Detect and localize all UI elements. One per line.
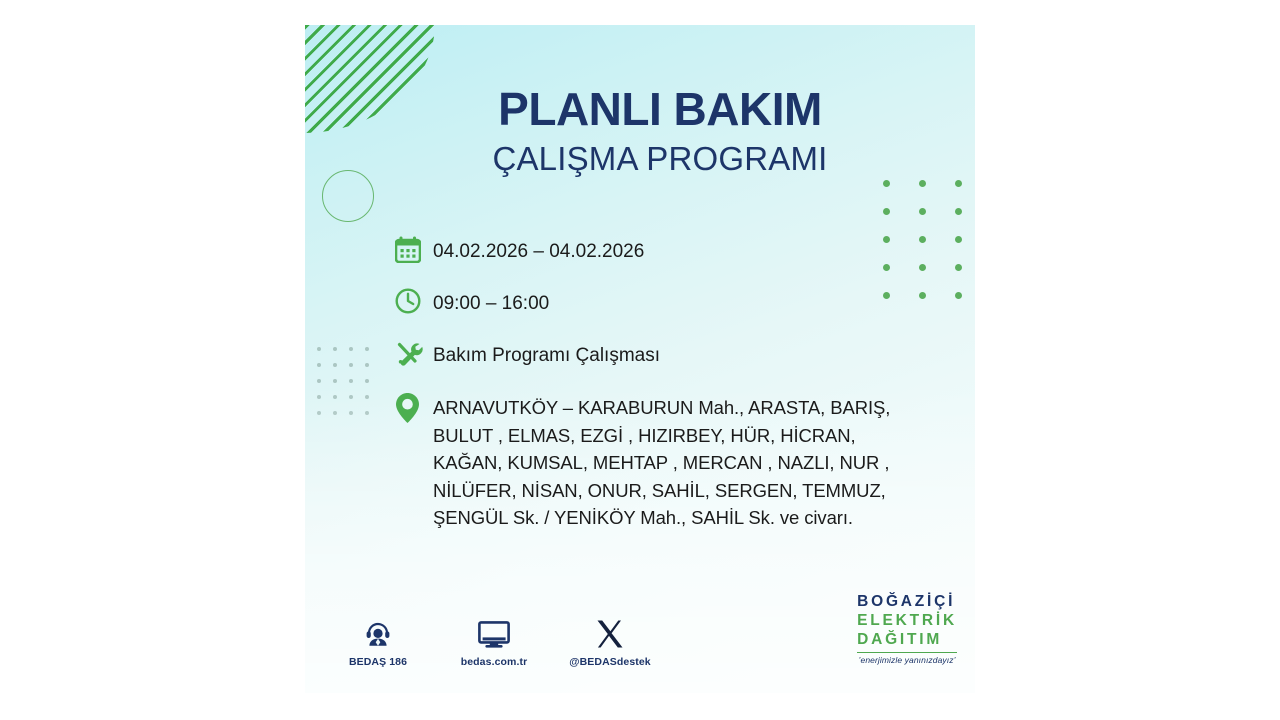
x-twitter-icon <box>596 615 624 649</box>
address-line: ARNAVUTKÖY – KARABURUN Mah., ARASTA, BAR… <box>433 394 890 422</box>
detail-row-address: ARNAVUTKÖY – KARABURUN Mah., ARASTA, BAR… <box>395 391 955 532</box>
address-text: ARNAVUTKÖY – KARABURUN Mah., ARASTA, BAR… <box>433 391 890 532</box>
monitor-website-icon <box>478 615 510 649</box>
clock-icon <box>395 287 433 322</box>
contact-website[interactable]: bedas.com.tr <box>455 615 533 668</box>
footer-contacts: BEDAŞ 186 bedas.com.tr <box>325 615 649 668</box>
calendar-icon <box>395 235 433 270</box>
contact-website-label: bedas.com.tr <box>461 656 528 668</box>
page-subtitle: ÇALIŞMA PROGRAMI <box>345 138 975 179</box>
work-type-text: Bakım Programı Çalışması <box>433 339 660 370</box>
brand-line-bogazici: BOĞAZİÇİ <box>857 592 957 611</box>
brand-line-elektrik: ELEKTRİK <box>857 611 957 630</box>
contact-phone-label: BEDAŞ 186 <box>349 656 407 668</box>
bedas-logo: BOĞAZİÇİ ELEKTRİK DAĞITIM ’enerjimizle y… <box>857 592 957 665</box>
address-line: KAĞAN, KUMSAL, MEHTAP , MERCAN , NAZLI, … <box>433 449 890 477</box>
detail-row-date: 04.02.2026 – 04.02.2026 <box>395 235 955 270</box>
screenshot-root: PLANLI BAKIM ÇALIŞMA PROGRAMI <box>0 0 1280 720</box>
address-line: NİLÜFER, NİSAN, ONUR, SAHİL, SERGEN, TEM… <box>433 477 890 505</box>
location-pin-icon <box>395 391 433 426</box>
brand-divider <box>857 652 957 654</box>
dot-grid-decoration-left <box>317 347 381 427</box>
brand-tagline: ’enerjimizle yanınızdayız’ <box>857 655 957 665</box>
address-line: BULUT , ELMAS, EZGİ , HIZIRBEY, HÜR, HİC… <box>433 422 890 450</box>
maintenance-notice-card: PLANLI BAKIM ÇALIŞMA PROGRAMI <box>305 25 975 693</box>
time-range-text: 09:00 – 16:00 <box>433 287 549 318</box>
brand-line-dagitim: DAĞITIM <box>857 630 957 649</box>
date-range-text: 04.02.2026 – 04.02.2026 <box>433 235 644 266</box>
notice-details: 04.02.2026 – 04.02.2026 09:00 – 16:00 <box>395 235 955 532</box>
detail-row-time: 09:00 – 16:00 <box>395 287 955 322</box>
detail-row-worktype: Bakım Programı Çalışması <box>395 339 955 374</box>
tools-icon <box>395 339 433 374</box>
contact-x-label: @BEDASdestek <box>569 656 650 668</box>
headset-support-icon <box>363 615 393 649</box>
contact-x-twitter[interactable]: @BEDASdestek <box>571 615 649 668</box>
page-title: PLANLI BAKIM <box>345 85 975 134</box>
contact-phone[interactable]: BEDAŞ 186 <box>339 615 417 668</box>
notice-header: PLANLI BAKIM ÇALIŞMA PROGRAMI <box>305 85 975 179</box>
address-line: ŞENGÜL Sk. / YENİKÖY Mah., SAHİL Sk. ve … <box>433 504 890 532</box>
